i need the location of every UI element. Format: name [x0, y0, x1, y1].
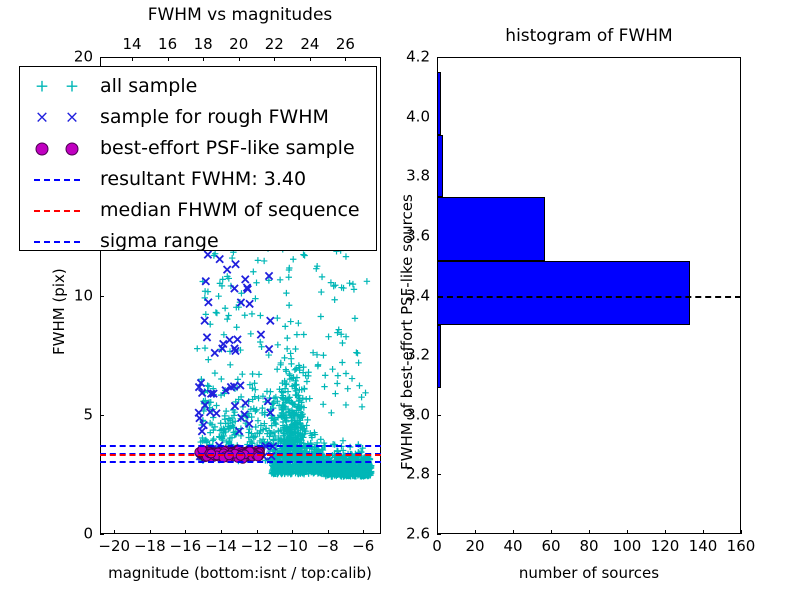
cross-icon: × — [65, 109, 79, 126]
histogram-xlabel: number of sources — [519, 566, 659, 581]
x-ticklabel-bottom: −18 — [134, 539, 166, 554]
legend-key-5 — [20, 226, 100, 257]
y-tick — [100, 534, 104, 535]
x-ticklabel-top: 20 — [229, 37, 248, 52]
x-ticklabel-bottom: −10 — [276, 539, 308, 554]
y-ticklabel: 5 — [83, 407, 93, 422]
legend-median-fhwm: median FHWM of sequence — [20, 195, 376, 226]
legend-key-1: ×× — [20, 102, 100, 133]
histogram-resultant-fwhm-line — [437, 296, 741, 298]
x-ticklabel-top: 22 — [265, 37, 284, 52]
hist-x-ticklabel: 60 — [541, 539, 560, 554]
x-tick-bottom — [363, 530, 364, 534]
legend-psf-sample: best-effort PSF-like sample — [20, 133, 376, 164]
hist-y-tick — [437, 57, 441, 58]
x-tick-bottom — [114, 530, 115, 534]
hist-x-ticklabel: 140 — [689, 539, 718, 554]
x-tick-top — [203, 57, 204, 61]
y-tick — [100, 296, 104, 297]
hist-x-ticklabel: 100 — [613, 539, 642, 554]
hist-x-tick — [627, 530, 628, 534]
hist-y-ticklabel: 3.6 — [406, 228, 430, 243]
legend-label: best-effort PSF-like sample — [100, 139, 355, 158]
hist-y-ticklabel: 3.8 — [406, 169, 430, 184]
x-ticklabel-bottom: −6 — [352, 539, 374, 554]
histogram-bar — [437, 261, 690, 325]
plus-icon: + — [35, 78, 49, 95]
y-tick — [100, 415, 104, 416]
legend-rough-fwhm: ××sample for rough FWHM — [20, 102, 376, 133]
figure-canvas: FWHM vs magnitudes magnitude (bottom:isn… — [0, 0, 800, 600]
legend-label: median FHWM of sequence — [100, 201, 360, 220]
x-tick-bottom — [150, 530, 151, 534]
plot-legend: ++all sample××sample for rough FWHMbest-… — [19, 66, 377, 251]
hist-y-ticklabel: 2.8 — [406, 467, 430, 482]
legend-key-0: ++ — [20, 71, 100, 102]
x-ticklabel-top: 16 — [158, 37, 177, 52]
scatter-xlabel: magnitude (bottom:isnt / top:calib) — [108, 566, 372, 581]
legend-key-4 — [20, 195, 100, 226]
plus-icon: + — [65, 78, 79, 95]
hist-y-tick — [437, 534, 441, 535]
legend-label: all sample — [100, 77, 197, 96]
hist-y-tick — [437, 415, 441, 416]
dashed-line-icon — [34, 179, 80, 181]
x-tick-top — [310, 57, 311, 61]
x-tick-top — [274, 57, 275, 61]
legend-all-sample: ++all sample — [20, 71, 376, 102]
scatter-ylabel: FWHM (pix) — [52, 268, 67, 355]
x-ticklabel-bottom: −16 — [170, 539, 202, 554]
legend-label: sigma range — [100, 232, 219, 251]
hist-y-ticklabel: 4.0 — [406, 109, 430, 124]
x-ticklabel-top: 18 — [194, 37, 213, 52]
x-tick-bottom — [185, 530, 186, 534]
histogram-bar — [437, 135, 443, 198]
hist-x-tick — [703, 530, 704, 534]
hist-y-ticklabel: 3.4 — [406, 288, 430, 303]
hist-x-ticklabel: 0 — [432, 539, 442, 554]
legend-sigma-range: sigma range — [20, 226, 376, 257]
histogram-bar — [437, 197, 545, 261]
x-ticklabel-bottom: −20 — [98, 539, 130, 554]
hist-x-tick — [513, 530, 514, 534]
x-ticklabel-top: 26 — [336, 37, 355, 52]
hist-x-tick — [589, 530, 590, 534]
hist-x-ticklabel: 80 — [579, 539, 598, 554]
histogram-bar — [437, 72, 441, 135]
x-ticklabel-top: 14 — [122, 37, 141, 52]
x-tick-top — [239, 57, 240, 61]
histogram-bar — [437, 325, 441, 388]
hist-x-tick — [551, 530, 552, 534]
hist-y-ticklabel: 4.2 — [406, 50, 430, 65]
dashed-line-icon — [34, 210, 80, 212]
hist-y-tick — [437, 474, 441, 475]
x-ticklabel-bottom: −12 — [241, 539, 273, 554]
x-tick-top — [132, 57, 133, 61]
histogram-title: histogram of FWHM — [505, 28, 672, 45]
hist-x-ticklabel: 120 — [651, 539, 680, 554]
x-tick-bottom — [292, 530, 293, 534]
x-ticklabel-top: 24 — [300, 37, 319, 52]
y-ticklabel: 10 — [74, 288, 93, 303]
dashdot-line-icon — [34, 241, 80, 243]
hist-y-ticklabel: 3.0 — [406, 407, 430, 422]
legend-resultant-fwhm: resultant FWHM: 3.40 — [20, 164, 376, 195]
scatter-fwhm-line — [100, 454, 381, 456]
legend-label: resultant FWHM: 3.40 — [100, 170, 306, 189]
legend-label: sample for rough FWHM — [100, 108, 329, 127]
x-tick-top — [345, 57, 346, 61]
hist-x-ticklabel: 160 — [727, 539, 756, 554]
x-tick-bottom — [257, 530, 258, 534]
legend-key-2 — [20, 133, 100, 164]
x-ticklabel-bottom: −8 — [317, 539, 339, 554]
hist-x-ticklabel: 20 — [465, 539, 484, 554]
hist-x-tick — [475, 530, 476, 534]
y-ticklabel: 20 — [74, 50, 93, 65]
legend-key-3 — [20, 164, 100, 195]
hist-y-ticklabel: 3.2 — [406, 348, 430, 363]
hist-x-tick — [741, 530, 742, 534]
scatter-sigma-line — [100, 445, 381, 447]
x-tick-top — [168, 57, 169, 61]
hist-y-ticklabel: 2.6 — [406, 527, 430, 542]
cross-icon: × — [35, 109, 49, 126]
hist-x-ticklabel: 40 — [503, 539, 522, 554]
x-tick-bottom — [328, 530, 329, 534]
scatter-plot-title: FWHM vs magnitudes — [148, 7, 333, 24]
dot-icon — [66, 142, 79, 155]
scatter-sigma-line — [100, 461, 381, 463]
y-ticklabel: 0 — [83, 527, 93, 542]
hist-x-tick — [665, 530, 666, 534]
x-tick-bottom — [221, 530, 222, 534]
x-ticklabel-bottom: −14 — [205, 539, 237, 554]
y-tick — [100, 57, 104, 58]
dot-icon — [36, 142, 49, 155]
